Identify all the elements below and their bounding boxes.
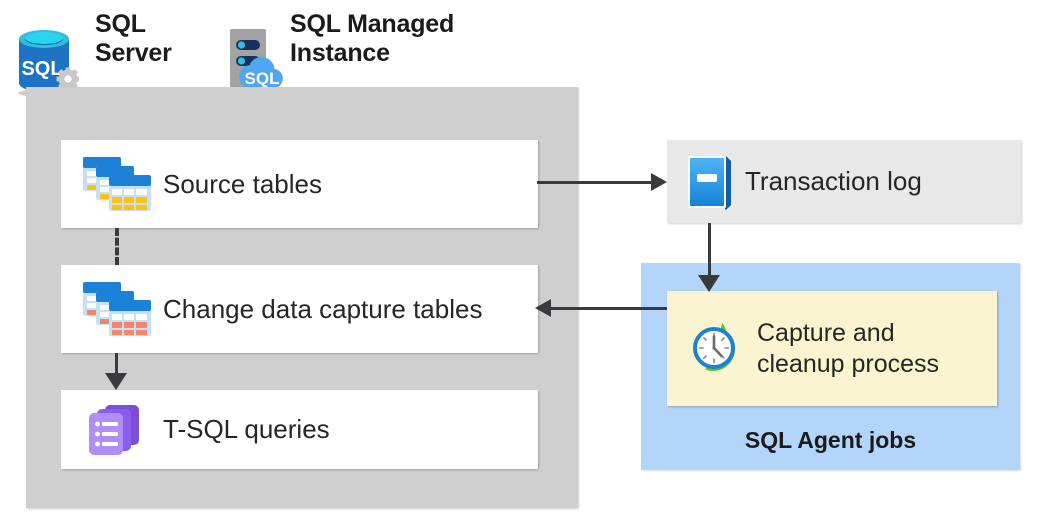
capture-cleanup-process-box[interactable]: Capture and cleanup process <box>667 291 997 406</box>
blue-book-log-icon <box>685 154 735 210</box>
svg-text:SQL: SQL <box>245 69 280 88</box>
purple-query-list-icon <box>81 400 153 460</box>
sql-server-title: SQL Server <box>95 10 172 68</box>
cdc-tables-label: Change data capture tables <box>163 294 482 325</box>
transaction-log-box[interactable]: Transaction log <box>667 140 1021 223</box>
tables-stack-yellow-icon <box>81 154 153 214</box>
tsql-queries-box[interactable]: T-SQL queries <box>61 390 538 469</box>
capture-cleanup-process-label: Capture and cleanup process <box>757 318 939 380</box>
transaction-log-label: Transaction log <box>745 166 922 197</box>
sql-managed-instance-title: SQL Managed Instance <box>290 10 454 68</box>
diagram-canvas: SQL SQL Server <box>0 0 1044 527</box>
clock-refresh-icon <box>687 323 739 375</box>
cdc-tables-box[interactable]: Change data capture tables <box>61 265 538 353</box>
sql-managed-instance-icon: SQL <box>220 26 288 94</box>
sql-agent-jobs-label: SQL Agent jobs <box>641 427 1020 454</box>
tables-stack-orange-icon <box>81 279 153 339</box>
tsql-queries-label: T-SQL queries <box>163 414 330 445</box>
svg-text:SQL: SQL <box>21 58 62 80</box>
source-tables-label: Source tables <box>163 169 322 200</box>
source-tables-box[interactable]: Source tables <box>61 140 538 228</box>
